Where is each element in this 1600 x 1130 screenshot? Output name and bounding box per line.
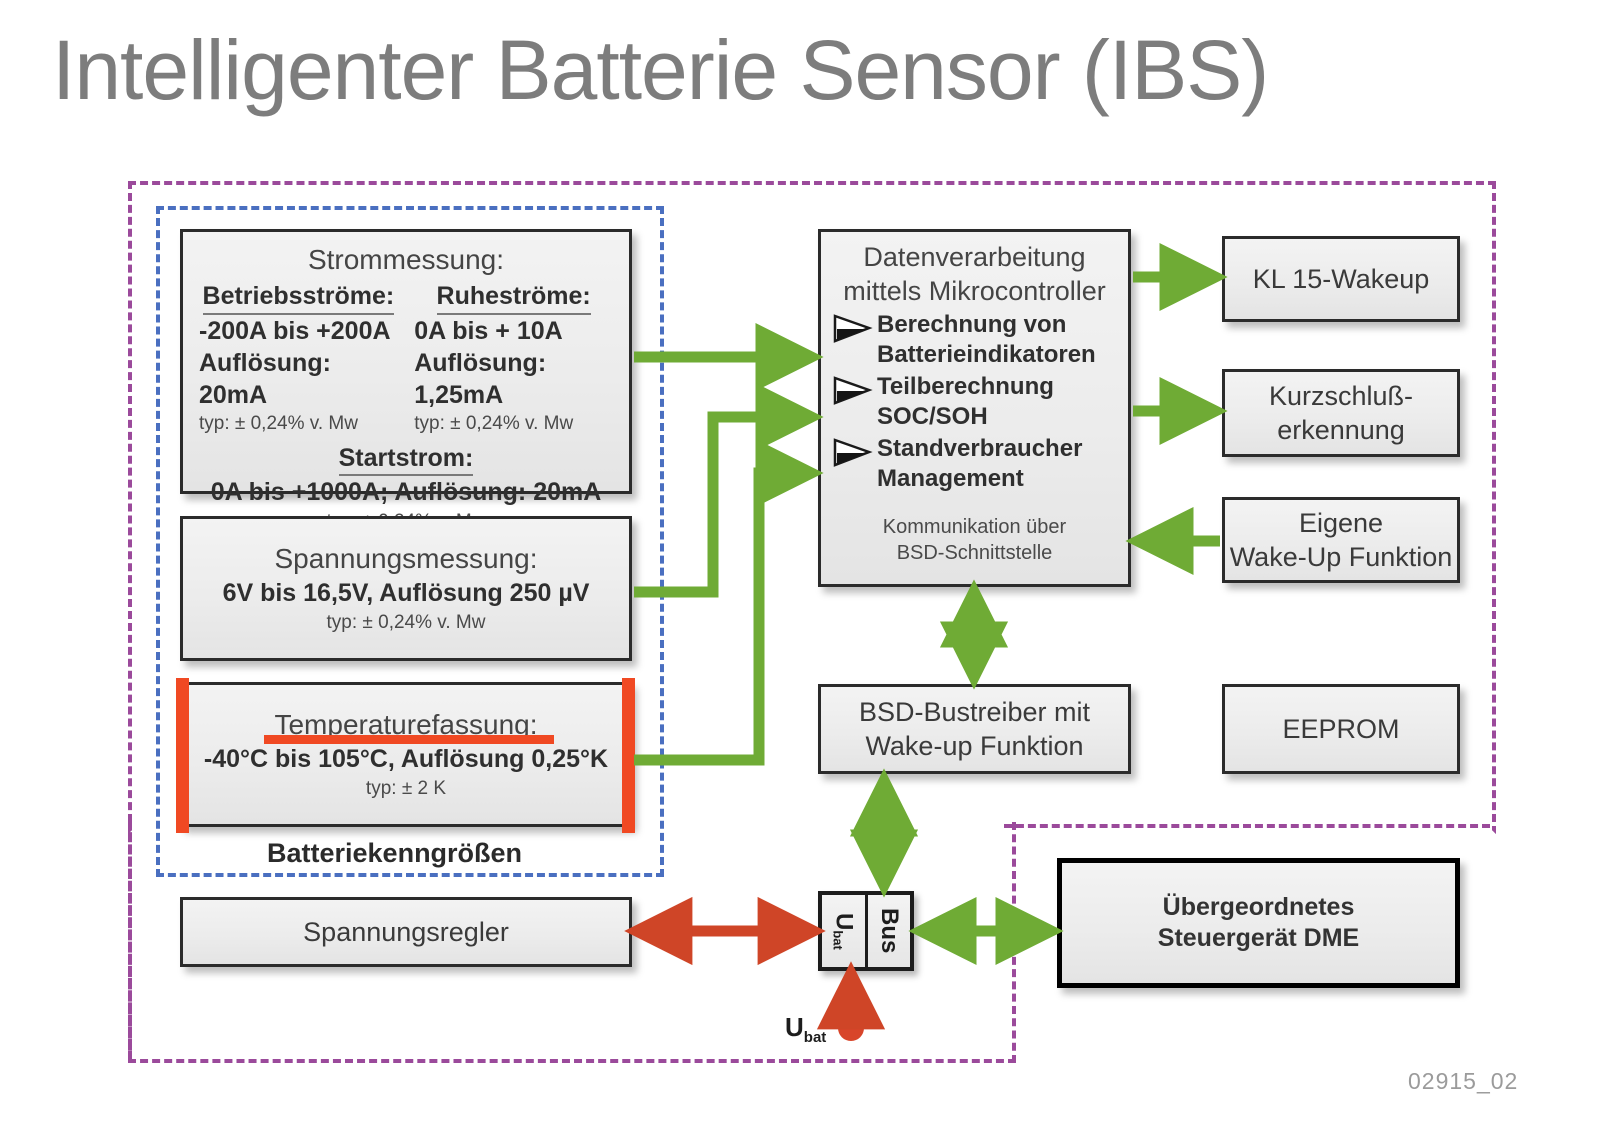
eeprom-label: EEPROM: [1282, 712, 1399, 746]
page-title: Intelligenter Batterie Sensor (IBS): [52, 22, 1268, 118]
short-circuit-detection-line1: Kurzschluß-: [1269, 379, 1413, 413]
operating-current-range: -200A bis +200A: [195, 315, 402, 347]
short-circuit-detection-line2: erkennung: [1277, 413, 1405, 447]
ecu-dme-box[interactable]: Übergeordnetes Steuergerät DME: [1057, 858, 1460, 988]
own-wakeup-function-line2: Wake-Up Funktion: [1230, 540, 1453, 574]
eeprom-box[interactable]: EEPROM: [1222, 684, 1460, 774]
figure-reference-code: 02915_02: [1408, 1068, 1518, 1095]
short-circuit-detection-box[interactable]: Kurzschluß- erkennung: [1222, 369, 1460, 457]
operating-current-column: Betriebsströme: -200A bis +200A Auflösun…: [195, 280, 402, 436]
highlight-bar-left: [176, 678, 189, 833]
voltage-regulator-box[interactable]: Spannungsregler: [180, 897, 632, 967]
own-wakeup-function-line1: Eigene: [1299, 506, 1383, 540]
quiescent-current-range: 0A bis + 10A: [410, 315, 617, 347]
highlight-underline-temperature-title: [264, 735, 554, 744]
microcontroller-bullet-3: Standverbraucher Management: [831, 434, 1118, 494]
microcontroller-title-line2: mittels Mikrocontroller: [831, 274, 1118, 308]
connector-ubat-label: Ubat: [829, 913, 857, 950]
quiescent-current-header: Ruheströme:: [437, 280, 591, 315]
connector-cell-bus[interactable]: Bus: [865, 895, 911, 967]
current-measurement-box[interactable]: Strommessung: Betriebsströme: -200A bis …: [180, 229, 632, 494]
operating-current-typ: typ: ± 0,24% v. Mw: [195, 411, 402, 436]
quiescent-current-column: Ruheströme: 0A bis + 10A Auflösung: 1,25…: [410, 280, 617, 436]
voltage-regulator-label: Spannungsregler: [303, 915, 509, 949]
current-measurement-title: Strommessung:: [308, 242, 504, 278]
battery-terminal-dot-icon: [838, 1015, 864, 1041]
ecu-dme-line1: Übergeordnetes: [1163, 892, 1355, 923]
microcontroller-bullet-1-label: Berechnung von Batterieindikatoren: [877, 310, 1118, 370]
arrow-bullet-icon: [831, 372, 877, 411]
quiescent-current-resolution: Auflösung: 1,25mA: [410, 347, 617, 411]
start-current-header: Startstrom:: [339, 442, 474, 476]
kl15-wakeup-label: KL 15-Wakeup: [1253, 262, 1430, 296]
bsd-bus-driver-box[interactable]: BSD-Bustreiber mit Wake-up Funktion: [818, 684, 1131, 774]
battery-params-label: Batteriekenngrößen: [267, 838, 522, 869]
temperature-measurement-box[interactable]: Temperaturefassung: -40°C bis 105°C, Auf…: [180, 682, 632, 827]
microcontroller-box[interactable]: Datenverarbeitung mittels Mikrocontrolle…: [818, 229, 1131, 587]
voltage-measurement-box[interactable]: Spannungsmessung: 6V bis 16,5V, Auflösun…: [180, 516, 632, 661]
arrow-bullet-icon: [831, 434, 877, 473]
voltage-measurement-typ: typ: ± 0,24% v. Mw: [327, 610, 486, 636]
ecu-dme-line2: Steuergerät DME: [1158, 923, 1359, 954]
kl15-wakeup-box[interactable]: KL 15-Wakeup: [1222, 236, 1460, 322]
highlight-bar-right: [622, 678, 635, 833]
microcontroller-footer-line2: BSD-Schnittstelle: [831, 540, 1118, 566]
microcontroller-bullet-3-label: Standverbraucher Management: [877, 434, 1118, 494]
connector-cell-ubat[interactable]: Ubat: [822, 895, 865, 967]
current-measurement-columns: Betriebsströme: -200A bis +200A Auflösun…: [195, 280, 617, 436]
diagram-canvas: Intelligenter Batterie Sensor (IBS) Stro…: [0, 0, 1600, 1130]
ibs-module-boundary-step: [1004, 824, 1490, 832]
microcontroller-title-line1: Datenverarbeitung: [831, 240, 1118, 274]
operating-current-header: Betriebsströme:: [203, 280, 395, 315]
microcontroller-footer-line1: Kommunikation über: [831, 514, 1118, 540]
operating-current-resolution: Auflösung: 20mA: [195, 347, 402, 411]
bsd-bus-driver-line1: BSD-Bustreiber mit: [859, 695, 1090, 729]
own-wakeup-function-box[interactable]: Eigene Wake-Up Funktion: [1222, 497, 1460, 583]
microcontroller-bullet-2: Teilberechnung SOC/SOH: [831, 372, 1118, 432]
voltage-measurement-value: 6V bis 16,5V, Auflösung 250 µV: [223, 577, 590, 610]
microcontroller-bullet-2-label: Teilberechnung SOC/SOH: [877, 372, 1118, 432]
microcontroller-bullet-1: Berechnung von Batterieindikatoren: [831, 310, 1118, 370]
temperature-measurement-value: -40°C bis 105°C, Auflösung 0,25°K: [204, 743, 608, 776]
voltage-measurement-title: Spannungsmessung:: [274, 541, 537, 577]
connector-bus-label: Bus: [875, 908, 903, 953]
quiescent-current-typ: typ: ± 0,24% v. Mw: [410, 411, 617, 436]
connector-block[interactable]: Ubat Bus: [818, 891, 914, 971]
arrow-bullet-icon: [831, 310, 877, 349]
bsd-bus-driver-line2: Wake-up Funktion: [865, 729, 1083, 763]
battery-terminal-label: Ubat: [785, 1012, 826, 1046]
temperature-measurement-typ: typ: ± 2 K: [366, 776, 446, 802]
start-current-value: 0A bis +1000A; Auflösung: 20mA: [211, 476, 602, 509]
